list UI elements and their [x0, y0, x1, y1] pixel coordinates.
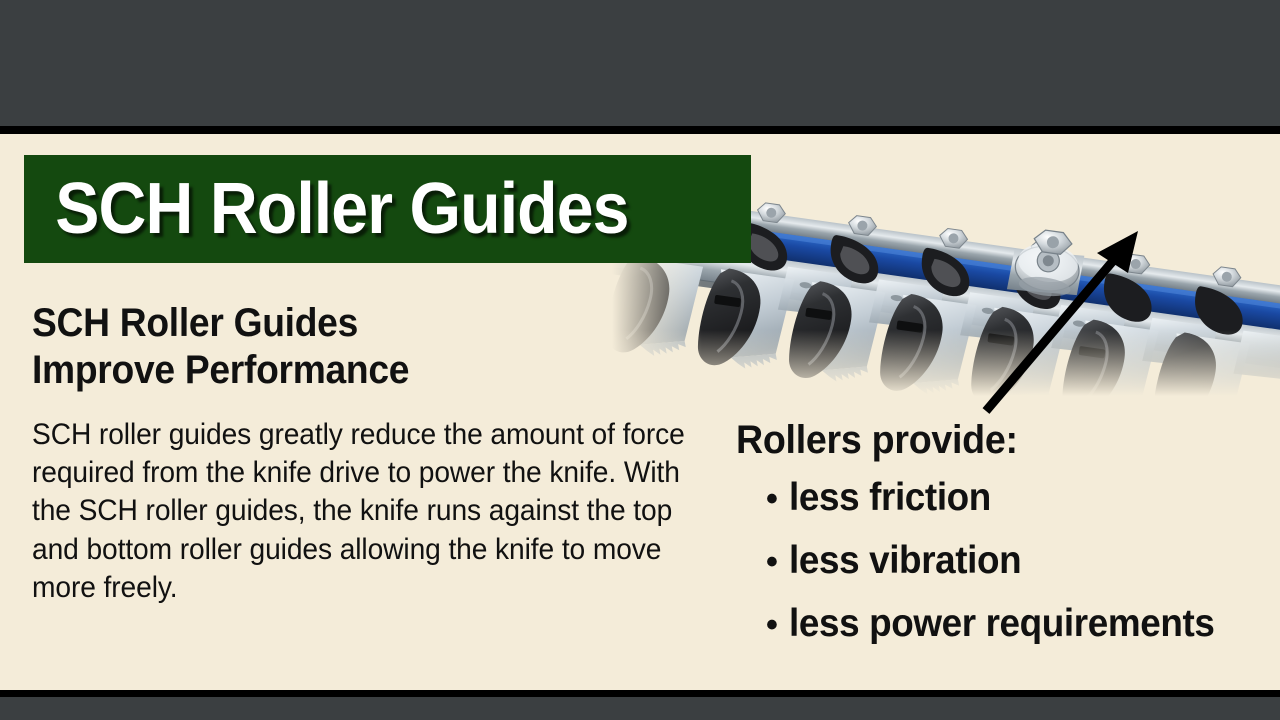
- section-title-block: SCH Roller Guides: [24, 155, 751, 263]
- list-item: • less vibration: [736, 541, 1280, 580]
- callout-arrow-to-roller-guide: [960, 225, 1160, 425]
- bullet-dot-icon: •: [766, 608, 778, 642]
- subheading: SCH Roller Guides Improve Performance: [32, 300, 655, 394]
- list-item-label: less power requirements: [789, 604, 1215, 643]
- bullet-heading: Rollers provide:: [736, 420, 1247, 460]
- bullet-dot-icon: •: [766, 482, 778, 516]
- footer-divider: [0, 690, 1280, 697]
- header-divider: [0, 126, 1280, 134]
- list-item-label: less friction: [789, 478, 991, 517]
- left-text-column: SCH Roller Guides Improve Performance SC…: [32, 300, 702, 607]
- benefit-list: • less friction • less vibration • less …: [736, 478, 1280, 643]
- bullet-dot-icon: •: [766, 545, 778, 579]
- section-title-label: SCH Roller Guides: [24, 173, 629, 245]
- header-bar: [0, 0, 1280, 126]
- list-item: • less power requirements: [736, 604, 1280, 643]
- slide-canvas: Featured Components SCH Roller Guides SC…: [0, 0, 1280, 720]
- subheading-line-1: SCH Roller Guides: [32, 300, 655, 347]
- body-paragraph: SCH roller guides greatly reduce the amo…: [32, 416, 701, 608]
- subheading-line-2: Improve Performance: [32, 347, 655, 394]
- footer-bar: [0, 697, 1280, 720]
- list-item-label: less vibration: [789, 541, 1021, 580]
- list-item: • less friction: [736, 478, 1280, 517]
- right-bullet-column: Rollers provide: • less friction • less …: [736, 420, 1280, 667]
